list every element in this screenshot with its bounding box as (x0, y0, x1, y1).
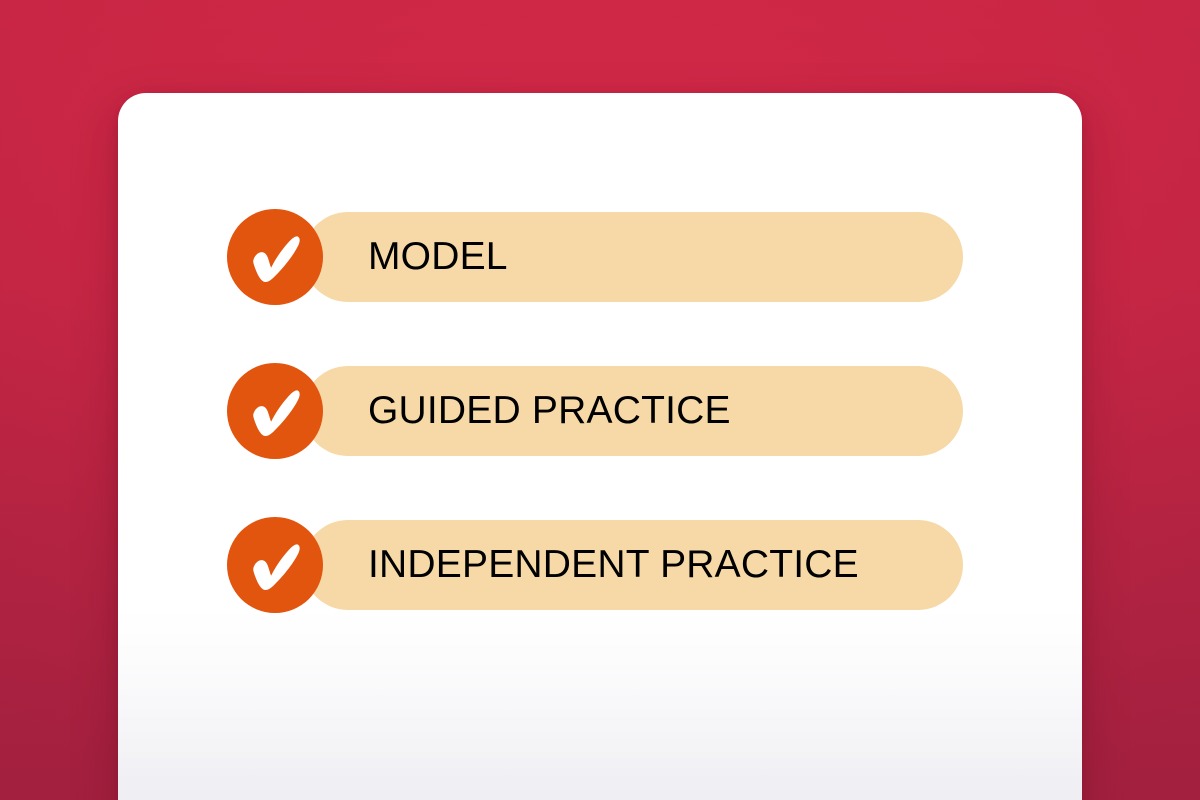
checklist-item-label: MODEL (368, 209, 508, 305)
checklist-item-label: INDEPENDENT PRACTICE (368, 517, 859, 613)
screenshot-stage: MODEL GUIDED PRACTICE (0, 0, 1200, 800)
checklist-item-label: GUIDED PRACTICE (368, 363, 731, 459)
content-card: MODEL GUIDED PRACTICE (118, 93, 1082, 800)
checklist-item[interactable]: INDEPENDENT PRACTICE (227, 517, 973, 613)
check-icon[interactable] (227, 363, 323, 459)
check-icon[interactable] (227, 517, 323, 613)
check-icon[interactable] (227, 209, 323, 305)
checklist-item[interactable]: GUIDED PRACTICE (227, 363, 973, 459)
checklist-item[interactable]: MODEL (227, 209, 973, 305)
